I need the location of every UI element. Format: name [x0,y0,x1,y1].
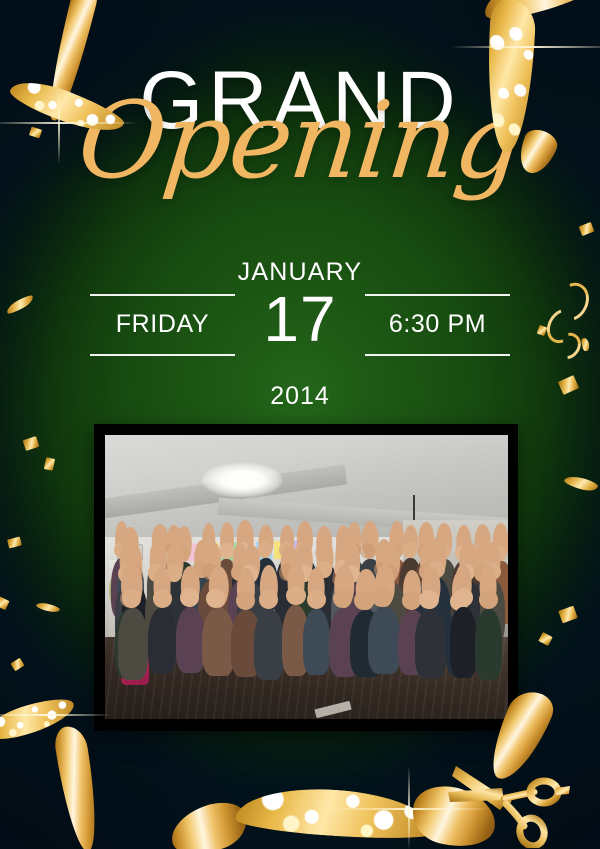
photo-person-head [236,591,255,610]
weekday-rule-bottom [90,354,235,356]
photo-person [415,609,446,679]
photo-person [450,607,477,677]
photo-person-head [153,589,172,608]
photo-person-head [372,588,391,607]
photo-person-head [259,590,278,609]
photo-person [254,609,283,680]
headline-opening-script: Opening [0,88,600,194]
event-time: 6:30 PM [365,296,510,354]
event-date-block: JANUARY 17 2014 FRIDAY 6:30 PM [0,258,600,418]
photo-person-head [479,590,498,609]
photo-person-head [286,586,305,605]
photo-frame [94,424,518,731]
photo-person-head [122,589,141,608]
event-time-group: 6:30 PM [365,294,510,356]
photo-person-head [333,589,352,608]
time-rule-bottom [365,354,510,356]
event-weekday-group: FRIDAY [90,294,235,356]
photo-person-head [180,588,199,607]
photo-person [202,608,235,676]
group-photo [105,435,508,719]
grand-opening-poster: GRAND Opening JANUARY 17 2014 FRIDAY 6:3… [0,0,600,849]
time-rule-top [365,294,510,296]
gold-scissors-icon [438,748,578,848]
photo-person [368,607,401,674]
event-weekday: FRIDAY [90,296,235,354]
photo-person-head [419,590,438,609]
weekday-rule-top [90,294,235,296]
photo-person [176,607,206,673]
photo-person [118,608,148,680]
photo-crowd [105,557,508,673]
photo-person [303,609,330,675]
photo-person [148,608,175,674]
event-year: 2014 [0,382,600,411]
photo-person [475,609,502,680]
